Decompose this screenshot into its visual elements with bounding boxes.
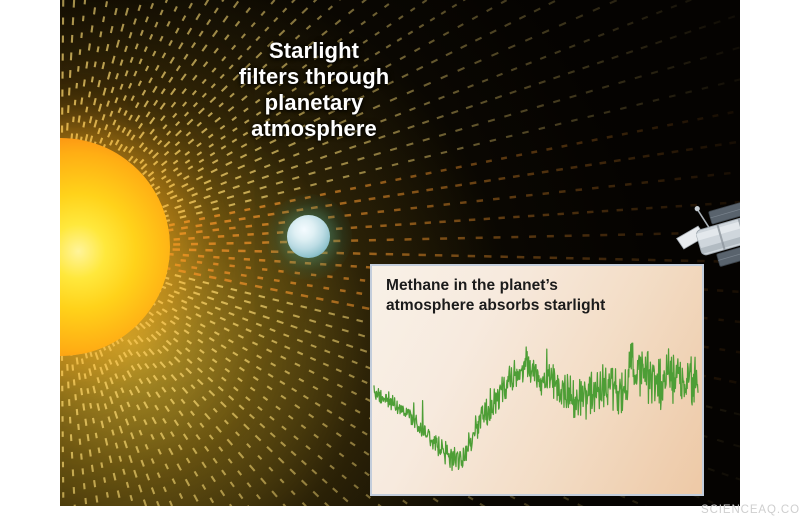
page-background: Starlight filters through planetary atmo… bbox=[0, 0, 800, 530]
page-title: Starlight filters through planetary atmo… bbox=[180, 38, 448, 142]
spectrum-title-line-1: Methane in the planet’s bbox=[386, 276, 605, 296]
spectrum-inset-panel: Methane in the planet’s atmosphere absor… bbox=[370, 264, 704, 496]
spectrum-title-line-2: atmosphere absorbs starlight bbox=[386, 296, 605, 316]
caption-line-4: atmosphere bbox=[180, 116, 448, 142]
caption-line-2: filters through bbox=[180, 64, 448, 90]
caption-line-1: Starlight bbox=[180, 38, 448, 64]
caption-line-3: planetary bbox=[180, 90, 448, 116]
illustration-plate: Starlight filters through planetary atmo… bbox=[60, 0, 740, 506]
watermark: SCIENCEAQ.COM bbox=[701, 504, 800, 516]
spectrum-title: Methane in the planet’s atmosphere absor… bbox=[386, 276, 605, 316]
planet-disc bbox=[287, 215, 330, 258]
